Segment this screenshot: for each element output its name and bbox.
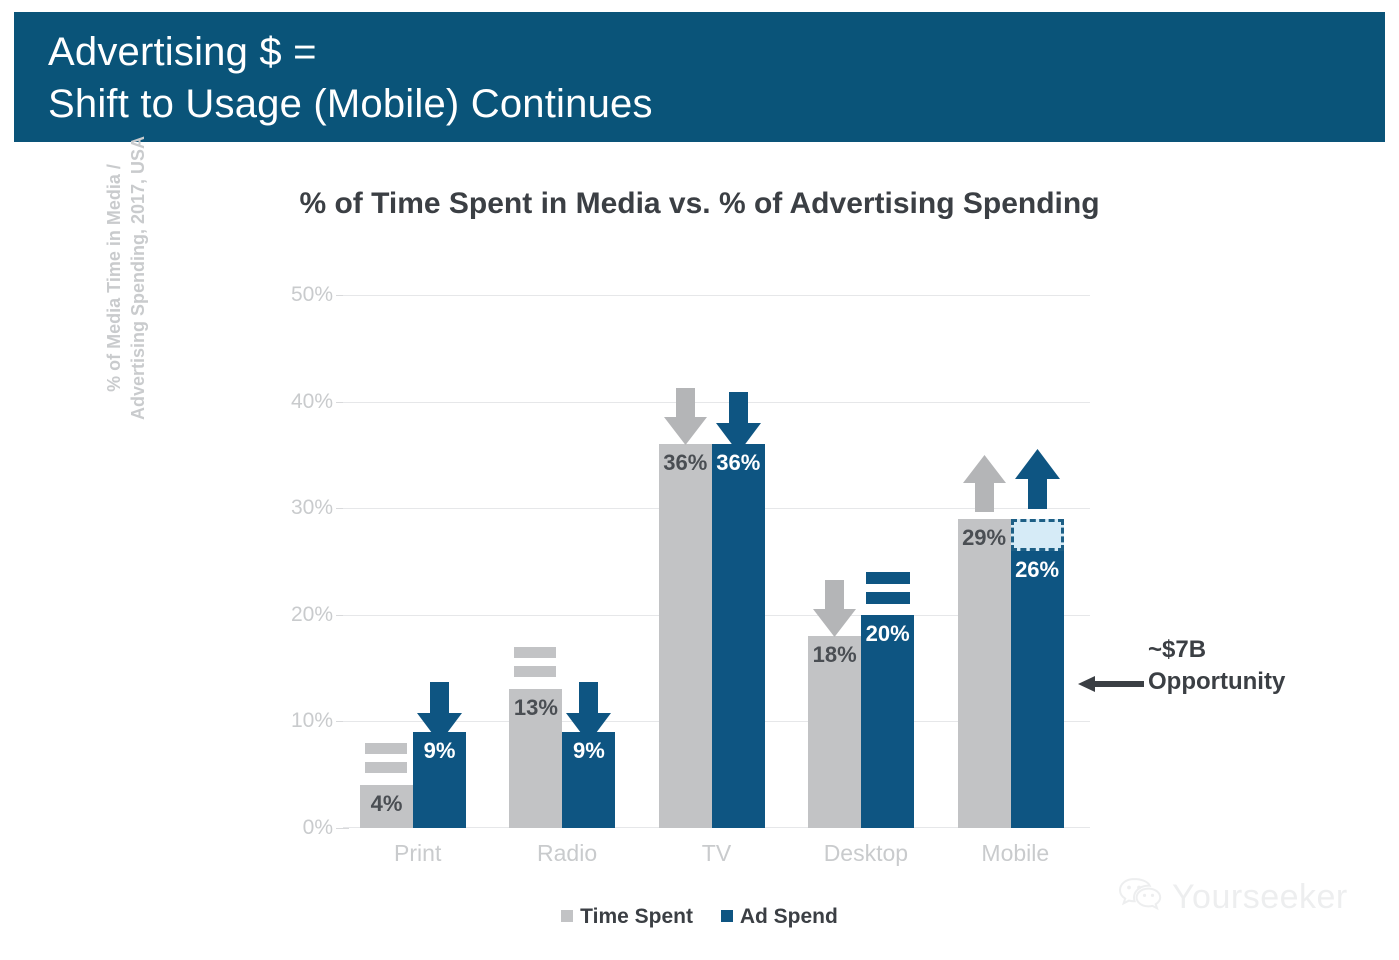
y-tick-label: 10% <box>291 709 333 733</box>
x-axis-label-desktop: Desktop <box>791 840 940 867</box>
bar-time-spent-desktop[interactable]: 18% <box>808 636 861 828</box>
bar-time-spent-radio[interactable]: 13% <box>509 689 562 828</box>
opportunity-label: Opportunity <box>1148 666 1378 698</box>
bar-value-label: 4% <box>360 791 413 817</box>
y-tick-label: 0% <box>303 816 333 840</box>
arrow-down-icon <box>713 390 764 456</box>
bar-group-mobile: 29% 26% Mobile <box>941 295 1090 828</box>
bar-time-spent-tv[interactable]: 36% <box>659 444 712 828</box>
chart-container: % of Time Spent in Media vs. % of Advert… <box>0 142 1399 960</box>
y-tick-label: 20% <box>291 603 333 627</box>
bar-ad-spend-tv[interactable]: 36% <box>712 444 765 828</box>
legend-swatch-icon <box>561 910 573 922</box>
opportunity-amount: ~$7B <box>1148 634 1378 666</box>
bar-ad-spend-print[interactable]: 9% <box>413 732 466 828</box>
header-title-line-2: Shift to Usage (Mobile) Continues <box>48 78 1385 130</box>
arrow-down-icon <box>414 680 465 746</box>
bar-group-print: 4% 9% Print <box>343 295 492 828</box>
bar-value-label: 20% <box>861 621 914 647</box>
wechat-icon <box>1118 876 1162 919</box>
bar-group-desktop: 18% 20% Desktop <box>791 295 940 828</box>
bar-ad-spend-mobile[interactable]: 26% <box>1011 551 1064 828</box>
y-axis-title: % of Media Time in Media / Advertising S… <box>102 68 150 488</box>
y-axis-tick-labels: 50% 40% 30% 20% 10% 0% <box>255 295 333 828</box>
arrow-down-icon <box>810 578 859 640</box>
y-tick-label: 50% <box>291 283 333 307</box>
legend-label: Time Spent <box>580 905 693 928</box>
y-axis-title-line-1: % of Media Time in Media / <box>102 68 126 488</box>
bar-time-spent-print[interactable]: 4% <box>360 785 413 828</box>
y-tick-label: 30% <box>291 496 333 520</box>
watermark-text: Yourseeker <box>1172 878 1348 917</box>
x-axis-label-mobile: Mobile <box>941 840 1090 867</box>
legend-item-time-spent[interactable]: Time Spent <box>561 905 693 929</box>
callout-arrow-icon <box>1078 675 1144 693</box>
bar-group-radio: 13% 9% Radio <box>492 295 641 828</box>
header-banner: Advertising $ = Shift to Usage (Mobile) … <box>14 12 1385 142</box>
y-tick-mark <box>336 828 349 829</box>
legend-item-ad-spend[interactable]: Ad Spend <box>721 905 838 929</box>
arrow-up-icon <box>960 452 1009 514</box>
bar-ad-spend-radio[interactable]: 9% <box>562 732 615 828</box>
bar-value-label: 18% <box>808 642 861 668</box>
opportunity-annotation: ~$7B Opportunity <box>1148 634 1378 698</box>
legend-swatch-icon <box>721 910 733 922</box>
arrow-down-icon <box>661 386 710 448</box>
bar-value-label: 36% <box>659 450 712 476</box>
bar-ad-spend-desktop[interactable]: 20% <box>861 615 914 828</box>
header-title-line-1: Advertising $ = <box>48 26 1385 78</box>
bar-value-label: 29% <box>958 525 1011 551</box>
chart-title: % of Time Spent in Media vs. % of Advert… <box>0 187 1399 221</box>
y-tick-label: 40% <box>291 390 333 414</box>
equals-icon <box>510 643 560 685</box>
bar-time-spent-mobile[interactable]: 29% <box>958 519 1011 828</box>
equals-icon <box>361 739 411 781</box>
y-axis-title-line-2: Advertising Spending, 2017, USA <box>126 68 150 488</box>
x-axis-label-print: Print <box>343 840 492 867</box>
legend-label: Ad Spend <box>740 905 838 928</box>
arrow-up-icon <box>1012 446 1063 512</box>
bar-group-tv: 36% 36% TV <box>642 295 791 828</box>
bar-value-label: 13% <box>509 695 562 721</box>
opportunity-box[interactable] <box>1011 519 1064 551</box>
x-axis-label-tv: TV <box>642 840 791 867</box>
equals-icon <box>862 568 912 610</box>
arrow-down-icon <box>563 680 614 746</box>
bar-value-label: 26% <box>1011 557 1064 583</box>
watermark: Yourseeker <box>1118 876 1348 919</box>
plot-area: 4% 9% Print <box>343 295 1090 828</box>
x-axis-label-radio: Radio <box>492 840 641 867</box>
